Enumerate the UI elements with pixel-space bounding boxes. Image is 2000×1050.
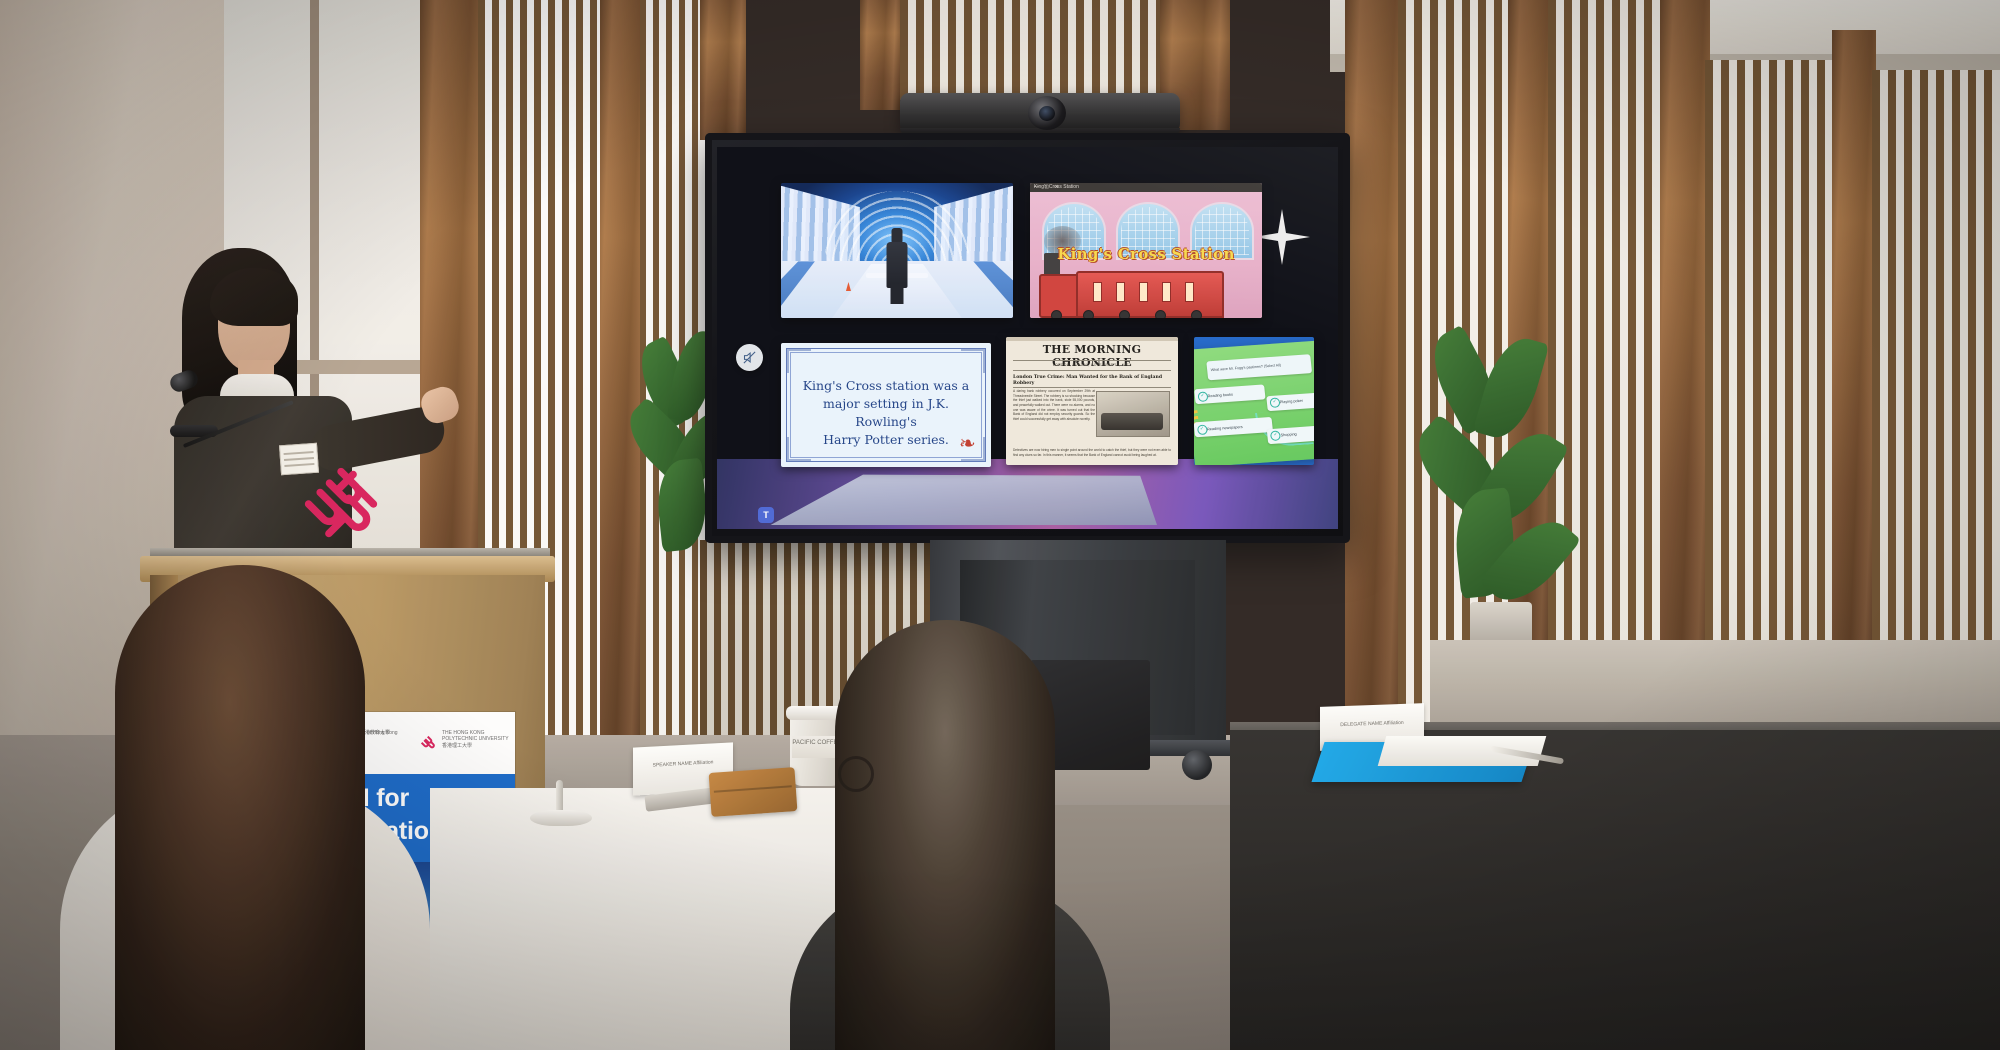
wall-display[interactable]: King's Cross Station King's Cross Statio… <box>705 133 1350 543</box>
presentation-slide: King's Cross Station King's Cross Statio… <box>717 147 1338 529</box>
newspaper-bottom: Detectives are now hiring men to single … <box>1013 448 1171 459</box>
quiz-panel[interactable]: What were Mr. Fogg's pastimes? (Select A… <box>1194 337 1314 465</box>
camera-lens <box>1039 106 1055 121</box>
morning-chronicle-panel[interactable]: THE MORNING CHRONICLE LONDON, SUNDAY, NO… <box>1006 337 1178 465</box>
name-card-text: SPEAKER NAME Affiliation <box>639 759 727 771</box>
table-microphone <box>530 780 592 826</box>
newspaper-dateline: LONDON, SUNDAY, NOVEMBER 19, 1872 <box>1006 363 1178 367</box>
newspaper-headline: London True Crime: Man Wanted for the Ba… <box>1013 375 1171 386</box>
quiz-option-label: Playing poker <box>1280 399 1303 405</box>
quiz-option-label: Reading books <box>1208 392 1234 398</box>
quiz-option[interactable]: ✓ Reading books <box>1194 384 1265 404</box>
mute-glyph <box>742 350 757 365</box>
cartoon-kings-cross-panel[interactable]: King's Cross Station King's Cross Statio… <box>1030 183 1262 318</box>
quote-text: King's Cross station was a major setting… <box>795 377 977 450</box>
quote-line-3: Harry Potter series. <box>795 431 977 449</box>
wood-post <box>600 0 642 790</box>
slat-screen-top <box>900 0 1160 100</box>
wood-post <box>700 0 746 140</box>
quiz-question-text: What were Mr. Fogg's pastimes? (Select A… <box>1211 363 1282 372</box>
organiser-3-name: THE HONG KONG POLYTECHNIC UNIVERSITY 香港理… <box>442 730 511 749</box>
quiz-option[interactable]: ✓ Reading newspapers <box>1194 417 1273 438</box>
vr-avatar <box>886 228 908 302</box>
quiz-board: What were Mr. Fogg's pastimes? (Select A… <box>1194 340 1314 465</box>
eyeglasses <box>838 756 874 792</box>
newspaper-engraving <box>1096 391 1170 437</box>
wood-post <box>1660 0 1710 680</box>
audience-member-foreground-left <box>115 565 365 1050</box>
newspaper-top-rule <box>1006 337 1178 341</box>
quote-line-1: King's Cross station was a <box>795 377 977 395</box>
slat-screen-6 <box>1705 60 1835 660</box>
newspaper-body-2: Detectives are now hiring men to single … <box>1013 448 1171 457</box>
window-controls[interactable]: — ▢ ✕ <box>1034 184 1258 190</box>
display-screen[interactable]: King's Cross Station King's Cross Statio… <box>717 147 1338 529</box>
slat-screen-7 <box>1872 70 2000 660</box>
newspaper-column: A daring bank robbery occurred on Septem… <box>1013 389 1095 423</box>
quiz-option[interactable]: ✓ Playing poker <box>1266 391 1314 411</box>
quote-corner <box>961 349 985 373</box>
quiz-question: What were Mr. Fogg's pastimes? (Select A… <box>1206 354 1313 380</box>
polyu-logo-icon <box>419 734 437 752</box>
quiz-option-label: Reading newspapers <box>1207 424 1243 430</box>
quote-line-2: major setting in J.K. Rowling's <box>795 395 977 431</box>
cartoon-wheels <box>1039 311 1239 318</box>
polyu-knot-logo <box>300 463 382 545</box>
vr-kings-cross-panel[interactable] <box>781 183 1013 318</box>
conference-room-photo: King's Cross Station King's Cross Statio… <box>0 0 2000 1050</box>
mute-icon[interactable] <box>736 344 763 371</box>
plant-right <box>1430 330 1580 660</box>
wood-post <box>1345 0 1401 800</box>
wallet-on-table <box>709 767 798 817</box>
newspaper-body-1: A daring bank robbery occurred on Septem… <box>1013 389 1095 421</box>
cartoon-title: King's Cross Station <box>1030 245 1262 263</box>
wood-post <box>1832 30 1876 670</box>
audience-member-foreground-right <box>835 620 1055 1050</box>
wax-seal-icon: ❧ <box>959 433 975 455</box>
teams-badge[interactable]: T <box>758 507 774 523</box>
cartoon-window-titlebar: King's Cross Station — ▢ ✕ <box>1030 183 1262 192</box>
quote-corner <box>787 349 811 373</box>
name-card-text: DELEGATE NAME Affiliation <box>1326 719 1418 730</box>
quiz-option-label: Shopping <box>1281 432 1297 437</box>
presenter-fringe <box>210 268 298 326</box>
wood-post <box>860 0 900 110</box>
stand-caster <box>1182 750 1212 780</box>
back-table <box>1430 640 2000 730</box>
harry-potter-quote-panel[interactable]: King's Cross station was a major setting… <box>781 343 991 467</box>
